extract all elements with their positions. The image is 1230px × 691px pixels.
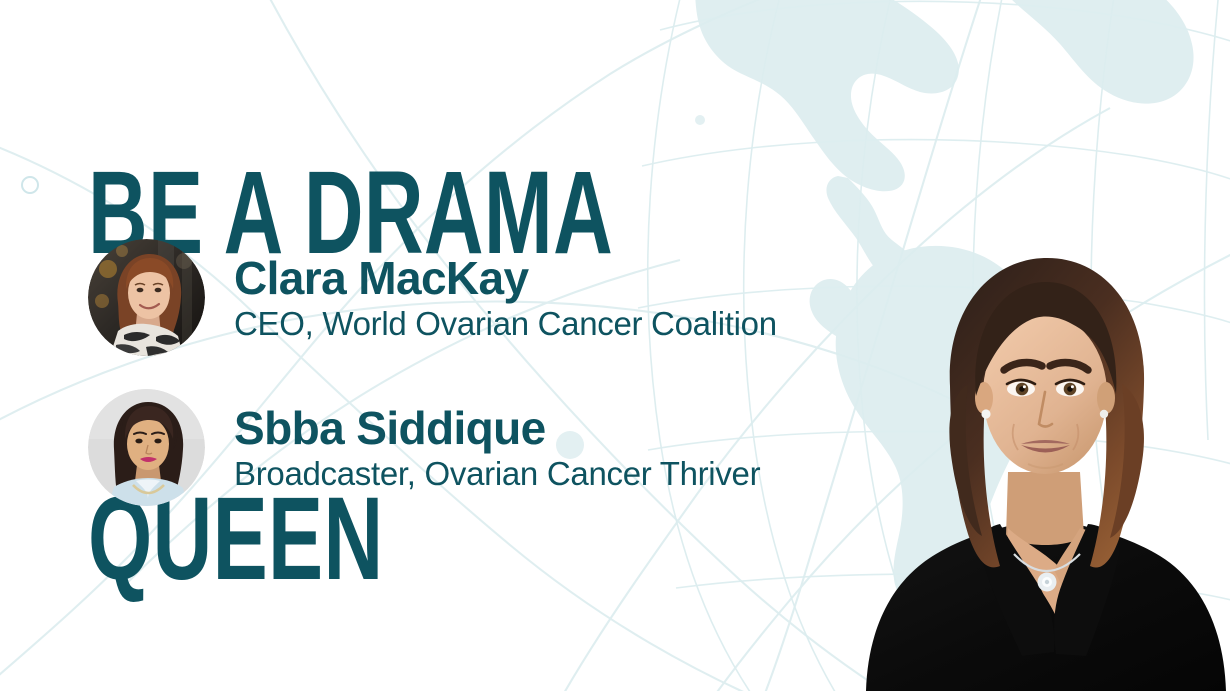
speaker-text: Sbba Siddique Broadcaster, Ovarian Cance… [234, 405, 760, 490]
speaker-name: Sbba Siddique [234, 405, 760, 451]
speaker-name: Clara MacKay [234, 255, 777, 301]
speaker-item: Sbba Siddique Broadcaster, Ovarian Cance… [88, 382, 848, 512]
speaker-role: CEO, World Ovarian Cancer Coalition [234, 307, 777, 340]
speaker-role: Broadcaster, Ovarian Cancer Thriver [234, 457, 760, 490]
speaker-text: Clara MacKay CEO, World Ovarian Cancer C… [234, 255, 777, 340]
host-portrait [858, 236, 1230, 691]
pendant-icon [1038, 573, 1057, 592]
speaker-list: Clara MacKay CEO, World Ovarian Cancer C… [88, 232, 848, 532]
network-node-tiny [695, 115, 705, 125]
slide-root: BE A DRAMA QUEEN [0, 0, 1230, 691]
network-node-outline [22, 177, 38, 193]
avatar-sbba-siddique [88, 389, 205, 506]
avatar-clara-mackay [88, 239, 205, 356]
speaker-item: Clara MacKay CEO, World Ovarian Cancer C… [88, 232, 848, 362]
